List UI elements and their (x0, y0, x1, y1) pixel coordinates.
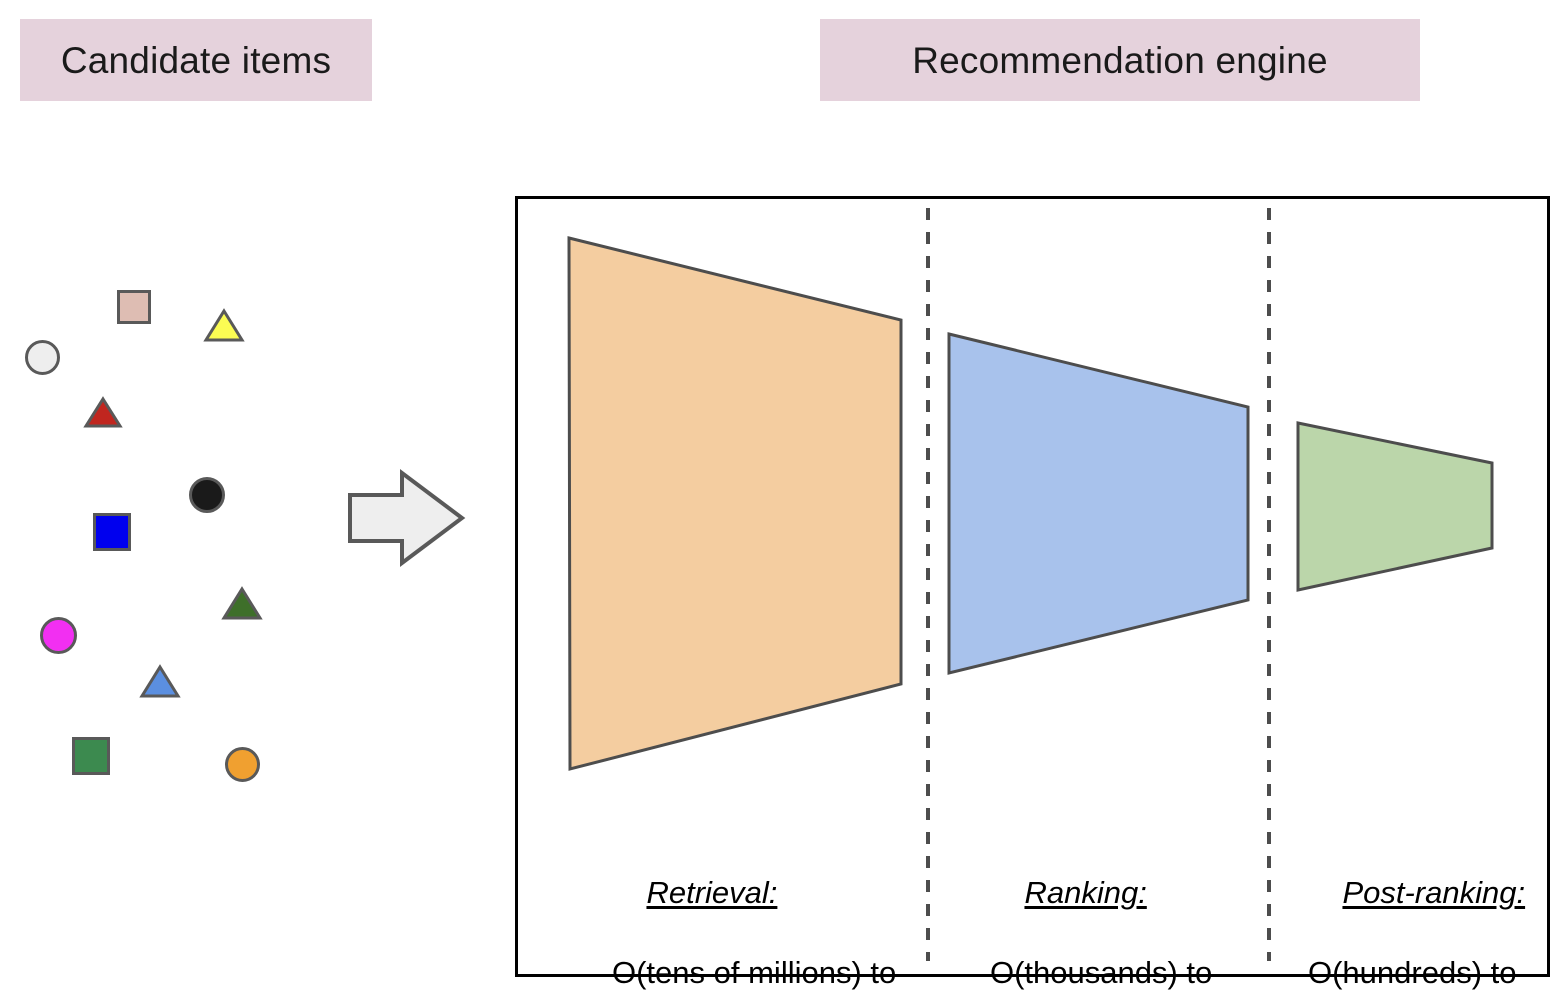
candidate-item-square-tan (117, 290, 151, 324)
candidate-item-circle-magenta (40, 617, 77, 654)
candidate-items-scatter (0, 250, 330, 810)
retrieval-line-1: O(tens of millions) to (612, 953, 896, 993)
flow-arrow-icon (346, 468, 466, 568)
candidate-item-circle-orange (225, 747, 260, 782)
retrieval-caption: Retrieval: O(tens of millions) to O(thou… (612, 833, 896, 1000)
candidate-item-circle-black (189, 477, 225, 513)
arrow-shape (350, 473, 462, 563)
candidate-items-header: Candidate items (20, 19, 372, 101)
ranking-line-1: O(thousands) to (990, 953, 1212, 993)
recommendation-engine-header: Recommendation engine (820, 19, 1420, 101)
recommendation-engine-label: Recommendation engine (912, 42, 1328, 79)
retrieval-funnel (569, 238, 901, 769)
candidate-items-label: Candidate items (61, 42, 331, 79)
ranking-caption: Ranking: O(thousands) to O(hundred) (990, 833, 1212, 1000)
candidate-item-circle-white (25, 340, 60, 375)
post-ranking-caption: Post-ranking: O(hundreds) to O(dozens) (1308, 833, 1525, 1000)
candidate-item-square-blue (93, 513, 131, 551)
retrieval-title: Retrieval: (646, 873, 777, 913)
post-ranking-funnel (1298, 423, 1492, 590)
post-ranking-title: Post-ranking: (1342, 873, 1525, 913)
ranking-title: Ranking: (1024, 873, 1146, 913)
post-ranking-line-1: O(hundreds) to (1308, 953, 1525, 993)
ranking-funnel (949, 334, 1248, 673)
diagram-canvas: Candidate items Recommendation engine Re… (0, 0, 1568, 1000)
candidate-item-square-green (72, 737, 110, 775)
